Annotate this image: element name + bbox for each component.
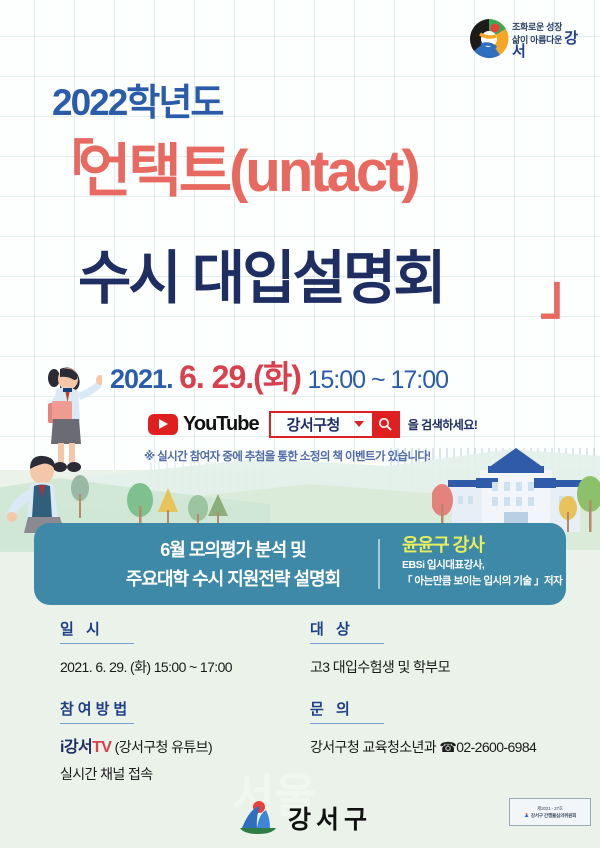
youtube-search-row: YouTube 강서구청 을 검색하세요!	[148, 410, 477, 438]
youtube-play-icon	[148, 414, 178, 435]
footer-logo: 강서구	[238, 800, 372, 836]
footer-logo-text: 강서구	[288, 800, 372, 836]
gangseo-gu-emblem-icon	[238, 800, 278, 836]
search-icon	[378, 417, 392, 431]
info-value: 2021. 6. 29. (화) 15:00 ~ 17:00	[60, 655, 232, 680]
lecturer-name: 윤윤구 강사	[402, 533, 562, 557]
info-field-howtojoin: 참여방법 i강서TV (강서구청 유튜브) 실시간 채널 접속	[60, 698, 212, 787]
youtube-search-box[interactable]: 강서구청	[269, 411, 400, 438]
lecturer-credential-2: 「 아는만큼 보이는 입시의 기술 」저자	[402, 573, 562, 589]
youtube-logo: YouTube	[148, 413, 259, 436]
info-field-contact: 문 의 강서구청 교육청소년과 ☎02-2600-6984	[310, 698, 536, 760]
brand-emblem-icon	[468, 18, 510, 60]
topic-line-1: 6월 모의평가 분석 및	[88, 536, 378, 565]
lecturer-block: 윤윤구 강사 EBSi 입시대표강사, 「 아는만큼 보이는 입시의 기술 」저…	[402, 533, 562, 589]
title-line-1: 언택트(untact)	[78, 141, 418, 203]
info-value-access: 실시간 채널 접속	[60, 762, 212, 787]
university-building-illustration	[432, 442, 600, 532]
info-value: 고3 대입수험생 및 학부모	[310, 655, 450, 680]
channel-tv: TV	[92, 739, 111, 756]
title-line-2: 수시 대입설명회	[78, 248, 444, 310]
shrub-illustration	[60, 470, 100, 520]
publication-approval-box: 제2021 - 27호 강서구 간행물심의위원회	[509, 798, 591, 826]
brand-slogan: 조화로운 성장 삶이 아름다운 강서	[512, 22, 588, 60]
topic-line-2: 주요대학 수시 지원전략 설명회	[88, 565, 378, 594]
topic-band: 6월 모의평가 분석 및 주요대학 수시 지원전략 설명회 윤윤구 강사 EBS…	[34, 523, 566, 605]
info-value-channel: i강서TV (강서구청 유튜브)	[60, 735, 212, 760]
mini-emblem-icon	[524, 813, 529, 818]
youtube-wordmark: YouTube	[183, 413, 259, 436]
publication-number: 제2021 - 27호	[537, 805, 563, 812]
info-label: 대 상	[310, 618, 384, 644]
academic-year-title: 2022학년도	[52, 72, 222, 126]
dateline-year: 2021.	[110, 364, 173, 394]
search-input[interactable]: 강서구청	[271, 413, 354, 436]
bracket-close: 」	[540, 268, 594, 322]
channel-kr: 강서	[64, 739, 92, 756]
publication-committee: 강서구 간행물심의위원회	[524, 812, 576, 819]
info-field-datetime: 일 시 2021. 6. 29. (화) 15:00 ~ 17:00	[60, 618, 232, 680]
band-divider	[378, 539, 380, 589]
dateline-time: 15:00 ~ 17:00	[307, 366, 448, 394]
search-hint-text: 을 검색하세요!	[408, 416, 478, 433]
event-dateline: 2021. 6. 29.(화) 15:00 ~ 17:00	[110, 352, 448, 398]
event-notice: ※ 실시간 참여자 중에 추첨을 통한 소정의 책 이벤트가 있습니다!	[144, 448, 431, 464]
channel-rest: (강서구청 유튜브)	[111, 739, 212, 755]
info-value: 강서구청 교육청소년과 ☎02-2600-6984	[310, 735, 536, 760]
info-label: 일 시	[60, 618, 134, 644]
poster-root: 조화로운 성장 삶이 아름다운 강서 2022학년도 「 언택트(untact)…	[0, 0, 600, 848]
info-field-audience: 대 상 고3 대입수험생 및 학부모	[310, 618, 450, 680]
lecturer-credential-1: EBSi 입시대표강사,	[402, 557, 562, 573]
dateline-date: 6. 29.(화)	[179, 359, 301, 395]
topic-text: 6월 모의평가 분석 및 주요대학 수시 지원전략 설명회	[88, 536, 378, 594]
chevron-down-icon[interactable]	[354, 421, 364, 427]
gangseo-brand-logo: 조화로운 성장 삶이 아름다운 강서	[468, 18, 586, 64]
info-label: 문 의	[310, 698, 384, 724]
info-label: 참여방법	[60, 698, 134, 724]
search-button[interactable]	[372, 413, 398, 436]
